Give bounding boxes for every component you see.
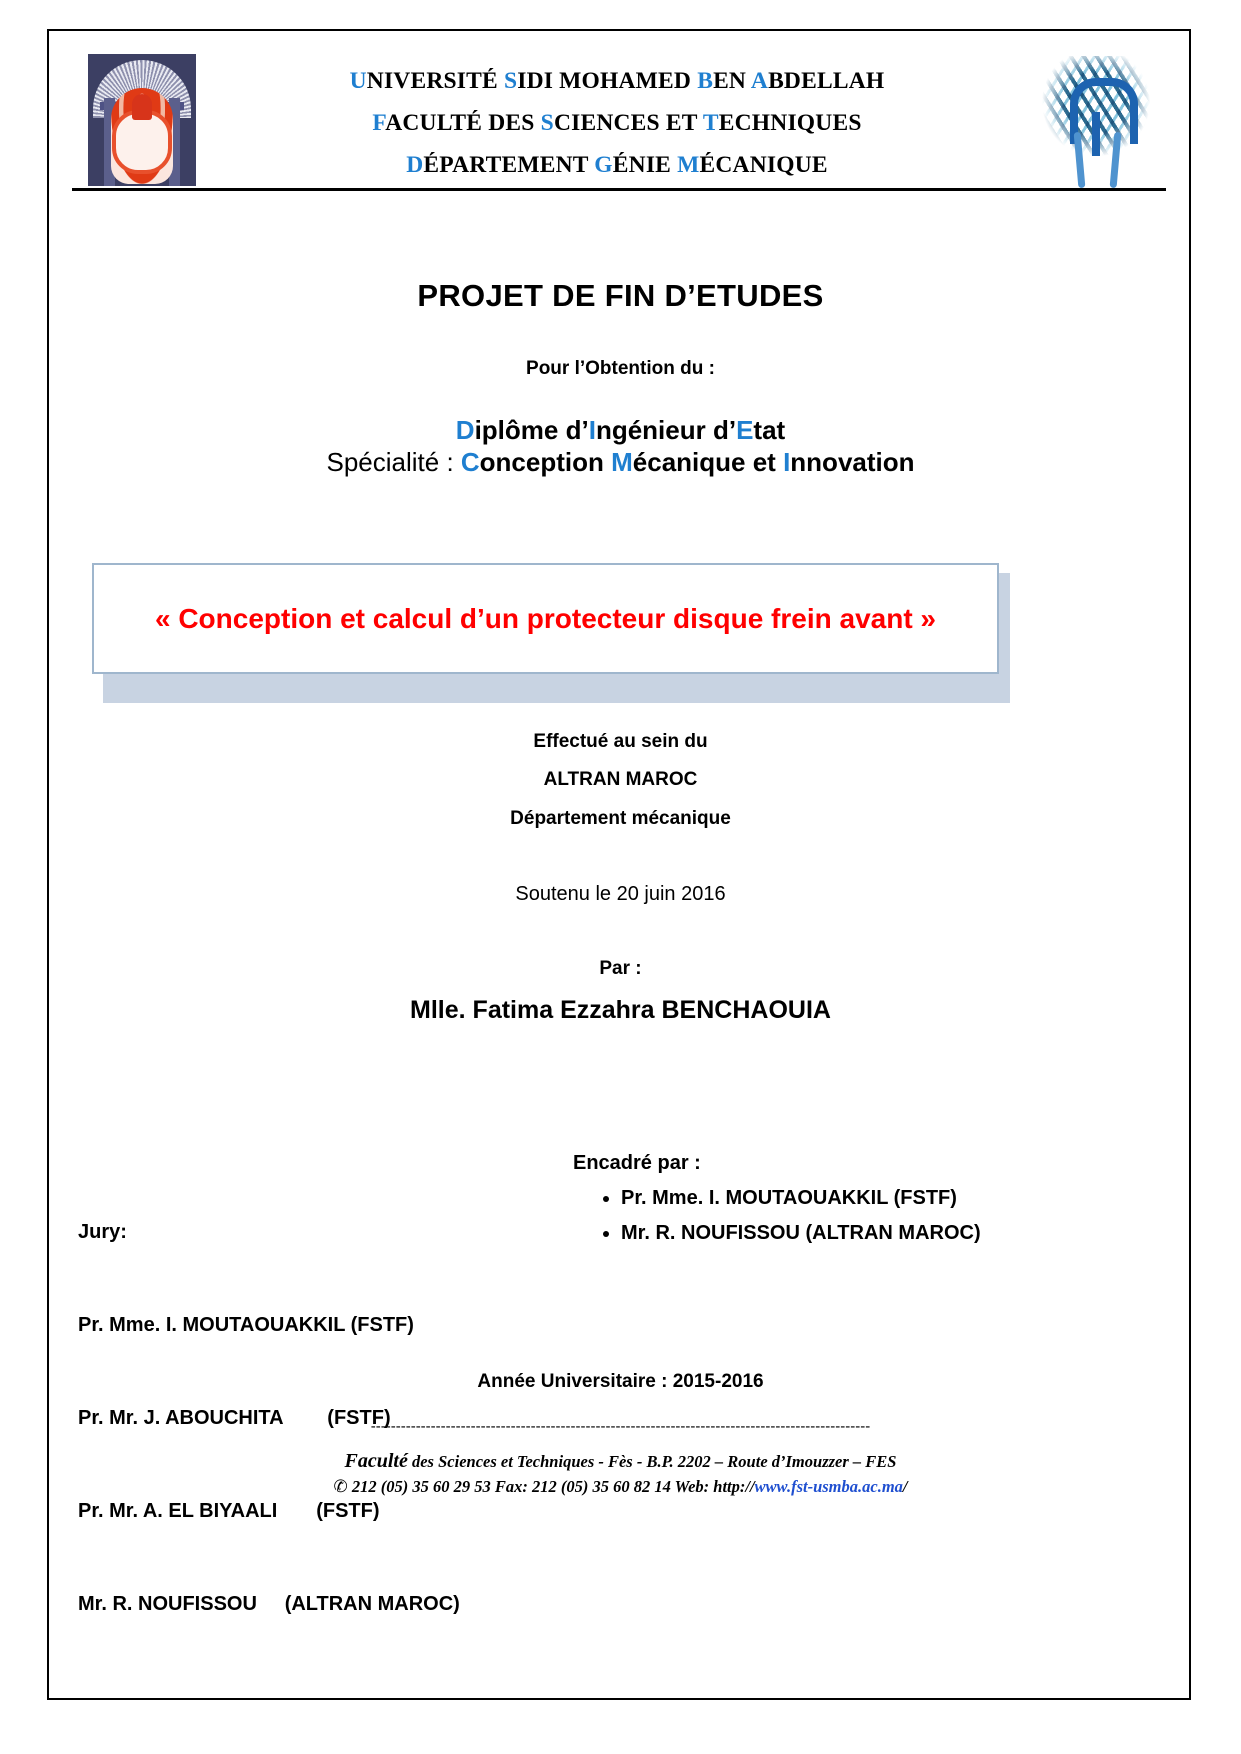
speciality-value-run-0: C bbox=[461, 447, 480, 477]
university-line-2-run-1: ACULTÉ DES bbox=[385, 110, 540, 136]
host-department: Département mécanique bbox=[0, 808, 1241, 830]
subject-box: « Conception et calcul d’un protecteur d… bbox=[92, 563, 999, 674]
speciality-line: Spécialité : Conception Mécanique et Inn… bbox=[0, 447, 1241, 478]
document-page: UNIVERSITÉ SIDI MOHAMED BEN ABDELLAH FAC… bbox=[0, 0, 1241, 1754]
university-line-1-run-7: BDELLAH bbox=[768, 68, 884, 94]
jury-label: Jury: bbox=[78, 1217, 460, 1248]
degree-name-run-2: I bbox=[589, 415, 596, 445]
university-line-3-run-1: ÉPARTEMENT bbox=[423, 152, 594, 178]
university-line-2: FACULTÉ DES SCIENCES ET TECHNIQUES bbox=[212, 102, 1022, 144]
host-company: ALTRAN MAROC bbox=[0, 769, 1241, 791]
document-header: UNIVERSITÉ SIDI MOHAMED BEN ABDELLAH FAC… bbox=[72, 52, 1166, 192]
degree-name: Diplôme d’Ingénieur d’Etat bbox=[0, 415, 1241, 446]
university-line-1-run-4: B bbox=[697, 68, 713, 94]
degree-purpose-label: Pour l’Obtention du : bbox=[0, 358, 1241, 380]
university-line-1-run-0: U bbox=[350, 68, 367, 94]
header-divider bbox=[72, 188, 1166, 191]
defense-date: Soutenu le 20 juin 2016 bbox=[0, 883, 1241, 906]
supervisors-label: Encadré par : bbox=[573, 1148, 981, 1179]
supervisor-item: Pr. Mme. I. MOUTAOUAKKIL (FSTF) bbox=[621, 1183, 981, 1214]
university-line-2-run-2: S bbox=[541, 110, 554, 136]
university-line-2-run-4: T bbox=[703, 110, 719, 136]
usmba-crest-logo bbox=[88, 54, 196, 186]
academic-year: Année Universitaire : 2015-2016 bbox=[0, 1371, 1241, 1393]
crest-glyph-icon bbox=[132, 94, 152, 120]
degree-name-run-3: ngénieur d’ bbox=[596, 415, 736, 445]
university-line-3-run-5: ÉCANIQUE bbox=[700, 152, 828, 178]
speciality-value-run-1: onception bbox=[480, 447, 611, 477]
speciality-prefix: Spécialité : bbox=[326, 447, 460, 477]
university-line-2-run-0: F bbox=[372, 110, 385, 136]
subject-title: « Conception et calcul d’un protecteur d… bbox=[131, 597, 960, 641]
university-line-1-run-3: IDI MOHAMED bbox=[517, 68, 697, 94]
speciality-value-run-5: nnovation bbox=[790, 447, 914, 477]
fst-stem-icon bbox=[1092, 112, 1100, 156]
phone-icon: ✆ bbox=[333, 1477, 347, 1497]
host-intro-label: Effectué au sein du bbox=[0, 731, 1241, 753]
speciality-value: Conception Mécanique et Innovation bbox=[461, 447, 915, 477]
university-line-3-run-2: G bbox=[594, 152, 612, 178]
university-line-1-run-1: NIVERSITÉ bbox=[367, 68, 504, 94]
supervisors-list: Pr. Mme. I. MOUTAOUAKKIL (FSTF) Mr. R. N… bbox=[573, 1183, 981, 1249]
footer-faculty-word: Faculté bbox=[345, 1450, 408, 1472]
page-title: PROJET DE FIN D’ETUDES bbox=[0, 278, 1241, 314]
degree-name-run-0: D bbox=[456, 415, 475, 445]
university-line-1: UNIVERSITÉ SIDI MOHAMED BEN ABDELLAH bbox=[212, 60, 1022, 102]
university-line-1-run-6: A bbox=[751, 68, 768, 94]
jury-member: Mr. R. NOUFISSOU (ALTRAN MAROC) bbox=[78, 1589, 460, 1620]
university-line-3: DÉPARTEMENT GÉNIE MÉCANIQUE bbox=[212, 144, 1022, 186]
university-line-3-run-4: M bbox=[677, 152, 699, 178]
university-line-2-run-3: CIENCES ET bbox=[554, 110, 703, 136]
fst-arch-logo bbox=[1036, 52, 1156, 192]
university-line-3-run-0: D bbox=[406, 152, 423, 178]
footer-address: Faculté des Sciences et Techniques - Fès… bbox=[0, 1450, 1241, 1473]
jury-member: Pr. Mr. A. EL BIYAALI (FSTF) bbox=[78, 1496, 460, 1527]
footer-separator: ----------------------------------------… bbox=[0, 1418, 1241, 1435]
supervisors-block: Encadré par : Pr. Mme. I. MOUTAOUAKKIL (… bbox=[573, 1148, 981, 1253]
speciality-value-run-3: écanique et bbox=[633, 447, 783, 477]
university-line-2-run-5: ECHNIQUES bbox=[719, 110, 862, 136]
author-label: Par : bbox=[0, 958, 1241, 980]
university-heading: UNIVERSITÉ SIDI MOHAMED BEN ABDELLAH FAC… bbox=[212, 60, 1022, 186]
footer-contact-suffix: / bbox=[903, 1477, 908, 1496]
university-line-1-run-5: EN bbox=[713, 68, 751, 94]
university-line-1-run-2: S bbox=[504, 68, 517, 94]
author-name: Mlle. Fatima Ezzahra BENCHAOUIA bbox=[0, 996, 1241, 1025]
university-line-3-run-3: ÉNIE bbox=[613, 152, 677, 178]
degree-name-run-1: iplôme d’ bbox=[475, 415, 589, 445]
degree-name-run-5: tat bbox=[753, 415, 785, 445]
supervisor-item: Mr. R. NOUFISSOU (ALTRAN MAROC) bbox=[621, 1218, 981, 1249]
footer-contact: ✆ 212 (05) 35 60 29 53 Fax: 212 (05) 35 … bbox=[0, 1477, 1241, 1497]
degree-name-run-4: E bbox=[736, 415, 753, 445]
jury-member: Pr. Mme. I. MOUTAOUAKKIL (FSTF) bbox=[78, 1310, 460, 1341]
speciality-value-run-2: M bbox=[611, 447, 633, 477]
footer-address-rest: des Sciences et Techniques - Fès - B.P. … bbox=[408, 1452, 897, 1471]
footer-website-link[interactable]: www.fst-usmba.ac.ma bbox=[755, 1477, 903, 1496]
footer-contact-text: 212 (05) 35 60 29 53 Fax: 212 (05) 35 60… bbox=[348, 1477, 755, 1496]
